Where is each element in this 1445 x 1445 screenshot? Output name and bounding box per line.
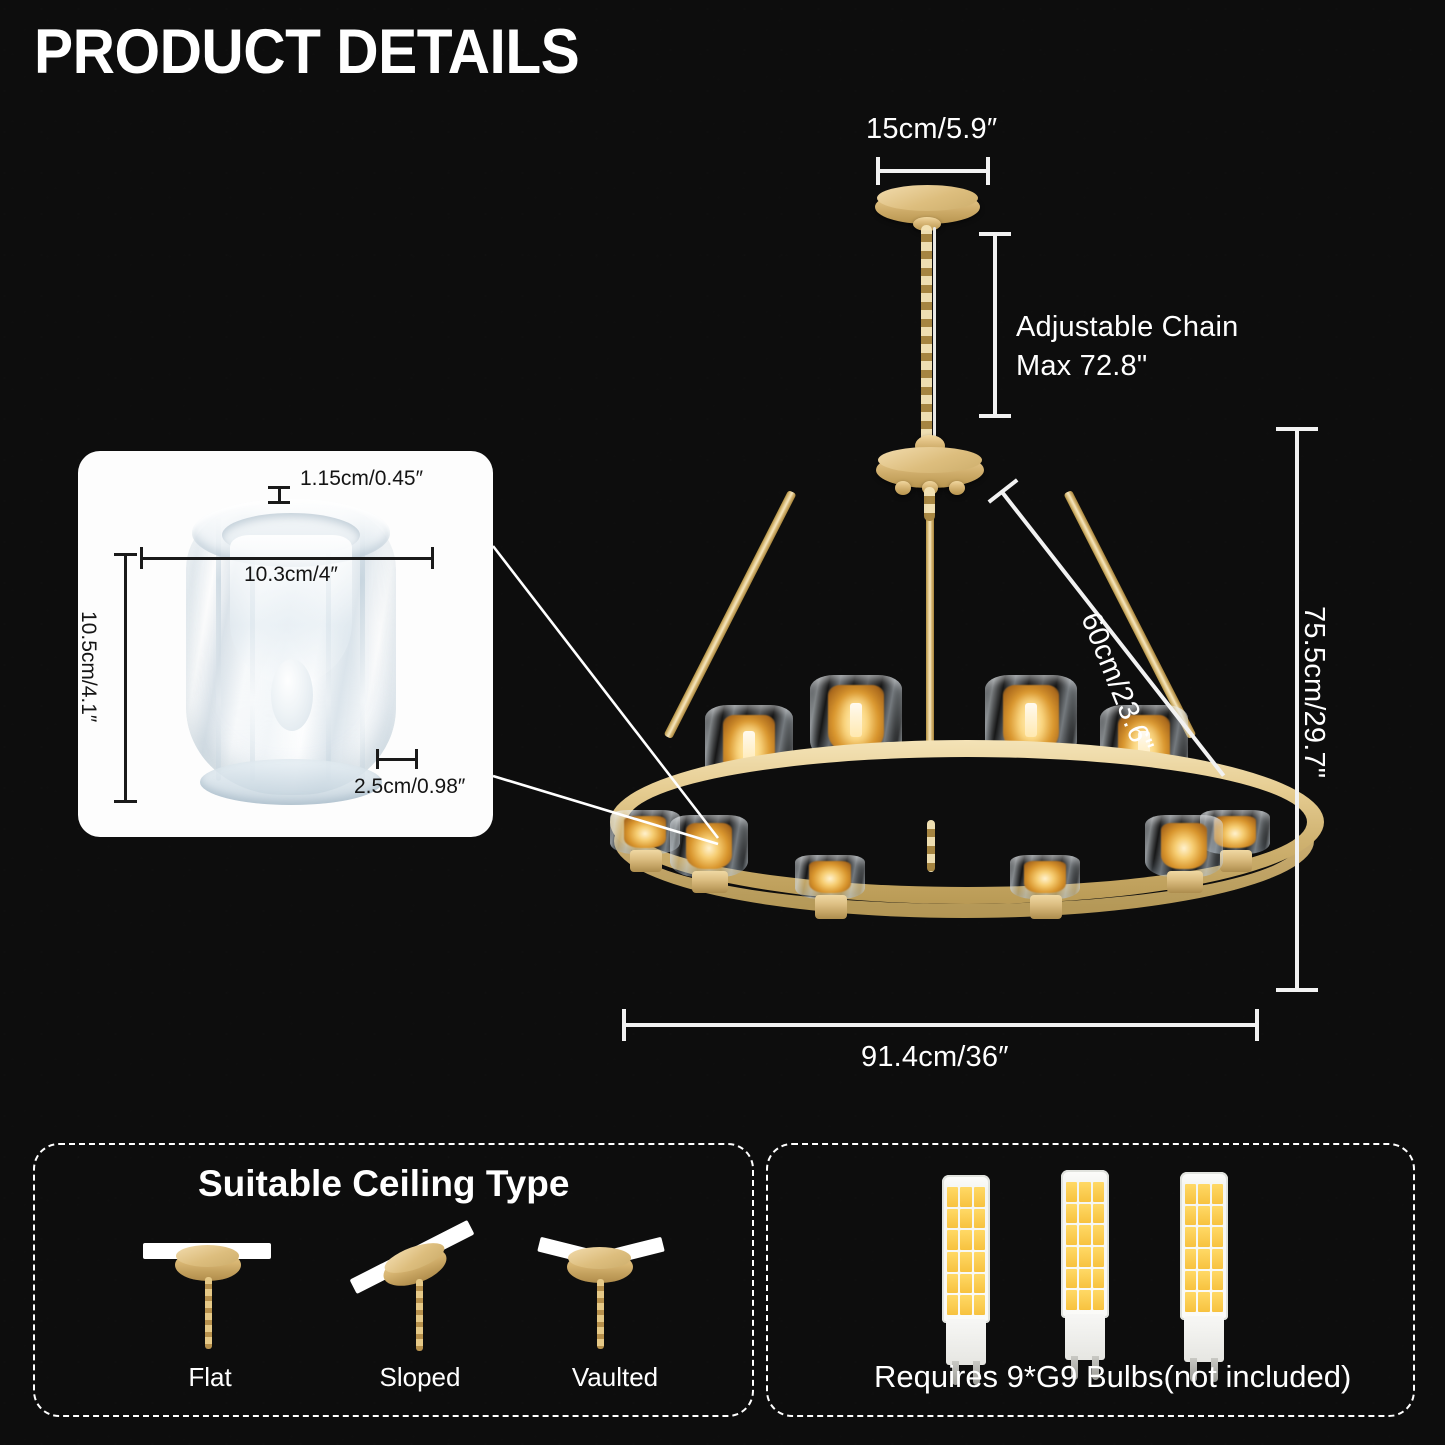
power-wire: [933, 227, 936, 443]
chandelier-illustration: [555, 165, 1345, 1025]
bulb-glass-2: [1061, 1170, 1109, 1318]
page-title: PRODUCT DETAILS: [34, 16, 579, 88]
led-chip: [1212, 1206, 1223, 1226]
bulb-glass-1: [942, 1175, 990, 1323]
led-chip: [960, 1209, 971, 1229]
led-chip: [1212, 1271, 1223, 1291]
support-rod-center: [926, 495, 934, 777]
led-chip: [947, 1187, 958, 1207]
ring-center-chain: [927, 820, 935, 872]
hub-plate-top: [878, 447, 982, 473]
shade-glow: [686, 823, 732, 869]
top-diameter-label: 10.3cm/4″: [244, 563, 338, 587]
led-chip: [1198, 1227, 1209, 1247]
led-chip: [1212, 1184, 1223, 1204]
bulb-base-3: [1184, 1316, 1224, 1362]
led-chip: [974, 1187, 985, 1207]
led-chip: [1079, 1290, 1090, 1310]
canopy-width-tick-right: [986, 157, 990, 185]
base-thickness-label: 2.5cm/0.98″: [354, 775, 465, 799]
shade-socket: [630, 850, 662, 872]
led-chip: [947, 1230, 958, 1250]
height-line: [124, 553, 127, 803]
vaulted-canopy-top: [568, 1247, 631, 1269]
led-chip: [1212, 1227, 1223, 1247]
base-tick-left: [376, 749, 379, 769]
led-chip: [974, 1230, 985, 1250]
center-chain-link: [924, 487, 935, 521]
led-chip: [1185, 1292, 1196, 1312]
led-chip: [1212, 1292, 1223, 1312]
hub-knob-left: [895, 481, 911, 495]
ceiling-type-vaulted-label: Vaulted: [565, 1362, 665, 1393]
led-chip: [1066, 1290, 1077, 1310]
bulb-led-grid-2: [1066, 1182, 1104, 1310]
shade-glow: [809, 861, 851, 893]
led-chip: [1198, 1249, 1209, 1269]
led-chip: [1185, 1227, 1196, 1247]
glass-shade-inset-card: 1.15cm/0.45″ 10.3cm/4″ 10.5cm/4.1″ 2.5cm…: [78, 451, 493, 837]
rim-thickness-label: 1.15cm/0.45″: [300, 467, 423, 491]
suspension-chain: [921, 225, 932, 447]
top-diameter-line: [140, 557, 434, 560]
bulb-led-grid-3: [1185, 1184, 1223, 1312]
led-chip: [1079, 1182, 1090, 1202]
led-chip: [960, 1274, 971, 1294]
rim-thickness-tick-bottom: [268, 501, 290, 504]
led-chip: [974, 1252, 985, 1272]
led-chip: [947, 1295, 958, 1315]
bulb-requirement-caption: Requires 9*G9 Bulbs(not included): [874, 1359, 1351, 1395]
led-chip: [1198, 1292, 1209, 1312]
led-chip: [1185, 1249, 1196, 1269]
height-dim-tick-top: [1276, 427, 1318, 431]
shade-socket: [1167, 871, 1203, 893]
ceiling-canopy-top: [877, 185, 978, 211]
led-chip: [960, 1187, 971, 1207]
ceiling-panel-title: Suitable Ceiling Type: [198, 1163, 569, 1205]
led-chip: [1079, 1269, 1090, 1289]
led-chip: [1198, 1184, 1209, 1204]
base-tick-right: [415, 749, 418, 769]
shade-glow: [1161, 823, 1207, 869]
canopy-width-line: [876, 169, 990, 173]
led-chip: [960, 1252, 971, 1272]
shade-filament: [1025, 703, 1037, 737]
led-chip: [974, 1209, 985, 1229]
glass-shade-illustration: [186, 491, 396, 801]
led-chip: [947, 1209, 958, 1229]
led-chip: [1066, 1225, 1077, 1245]
led-chip: [1185, 1271, 1196, 1291]
led-chip: [1185, 1184, 1196, 1204]
sloped-chain: [416, 1279, 423, 1351]
shade-socket: [1220, 850, 1252, 872]
bulb-base-2: [1065, 1314, 1105, 1360]
led-chip: [947, 1274, 958, 1294]
led-chip: [1079, 1247, 1090, 1267]
g9-bulb-2: [1053, 1170, 1117, 1378]
diameter-tick-right: [1255, 1009, 1259, 1041]
shade-socket: [815, 895, 847, 919]
led-chip: [1093, 1182, 1104, 1202]
glass-center-nub: [271, 659, 313, 731]
led-chip: [1066, 1182, 1077, 1202]
led-chip: [1093, 1225, 1104, 1245]
top-diameter-tick-left: [140, 547, 143, 569]
diameter-tick-left: [622, 1009, 626, 1041]
bulb-requirement-panel: Requires 9*G9 Bulbs(not included): [766, 1143, 1415, 1417]
g9-bulb-3: [1172, 1172, 1236, 1380]
led-chip: [1198, 1206, 1209, 1226]
led-chip: [960, 1230, 971, 1250]
led-chip: [1079, 1225, 1090, 1245]
led-chip: [1212, 1249, 1223, 1269]
led-chip: [974, 1274, 985, 1294]
bulb-glass-3: [1180, 1172, 1228, 1320]
height-dim-tick-bottom: [1276, 988, 1318, 992]
ceiling-type-flat-illustration: [143, 1233, 313, 1423]
suitable-ceiling-panel: Suitable Ceiling Type Flat Sloped Vaulte…: [33, 1143, 754, 1417]
diameter-dim-line: [622, 1023, 1259, 1027]
led-chip: [1198, 1271, 1209, 1291]
chain-dim-tick-top: [979, 232, 1011, 236]
chain-dim-tick-bottom: [979, 414, 1011, 418]
led-chip: [1093, 1290, 1104, 1310]
ceiling-type-sloped-label: Sloped: [375, 1362, 465, 1393]
led-chip: [1093, 1204, 1104, 1224]
chain-dim-line: [993, 232, 997, 418]
shade-glow: [1024, 861, 1066, 893]
chain-label-line1: Adjustable Chain: [1016, 311, 1238, 344]
total-height-label: 75.5cm/29.7": [1297, 606, 1330, 778]
canopy-width-label: 15cm/5.9″: [866, 113, 997, 146]
hub-knob-right: [949, 481, 965, 495]
product-details-image: PRODUCT DETAILS: [0, 0, 1445, 1445]
g9-bulb-1: [934, 1175, 998, 1383]
led-chip: [1093, 1269, 1104, 1289]
canopy-width-tick-left: [876, 157, 880, 185]
support-arm-left: [664, 490, 797, 739]
shade-glow: [624, 816, 666, 848]
led-chip: [960, 1295, 971, 1315]
shade-socket: [1030, 895, 1062, 919]
led-chip: [1066, 1247, 1077, 1267]
shade-filament: [850, 703, 862, 737]
vaulted-chain: [597, 1279, 604, 1349]
flat-canopy-top: [176, 1245, 239, 1267]
chain-label-line2: Max 72.8": [1016, 350, 1147, 383]
led-chip: [1066, 1269, 1077, 1289]
led-chip: [1066, 1204, 1077, 1224]
flat-chain: [205, 1277, 212, 1349]
led-chip: [1079, 1204, 1090, 1224]
led-chip: [1185, 1206, 1196, 1226]
shade-socket: [692, 871, 728, 893]
height-tick-bottom: [114, 800, 137, 803]
top-diameter-tick-right: [431, 547, 434, 569]
led-chip: [947, 1252, 958, 1272]
ceiling-type-vaulted-illustration: [535, 1233, 705, 1423]
shade-height-label: 10.5cm/4.1″: [78, 611, 100, 722]
led-chip: [974, 1295, 985, 1315]
ceiling-type-flat-label: Flat: [180, 1362, 240, 1393]
ring-diameter-label: 91.4cm/36″: [861, 1041, 1009, 1074]
led-chip: [1093, 1247, 1104, 1267]
bulb-led-grid-1: [947, 1187, 985, 1315]
base-thickness-line: [376, 758, 418, 761]
height-tick-top: [114, 553, 137, 556]
